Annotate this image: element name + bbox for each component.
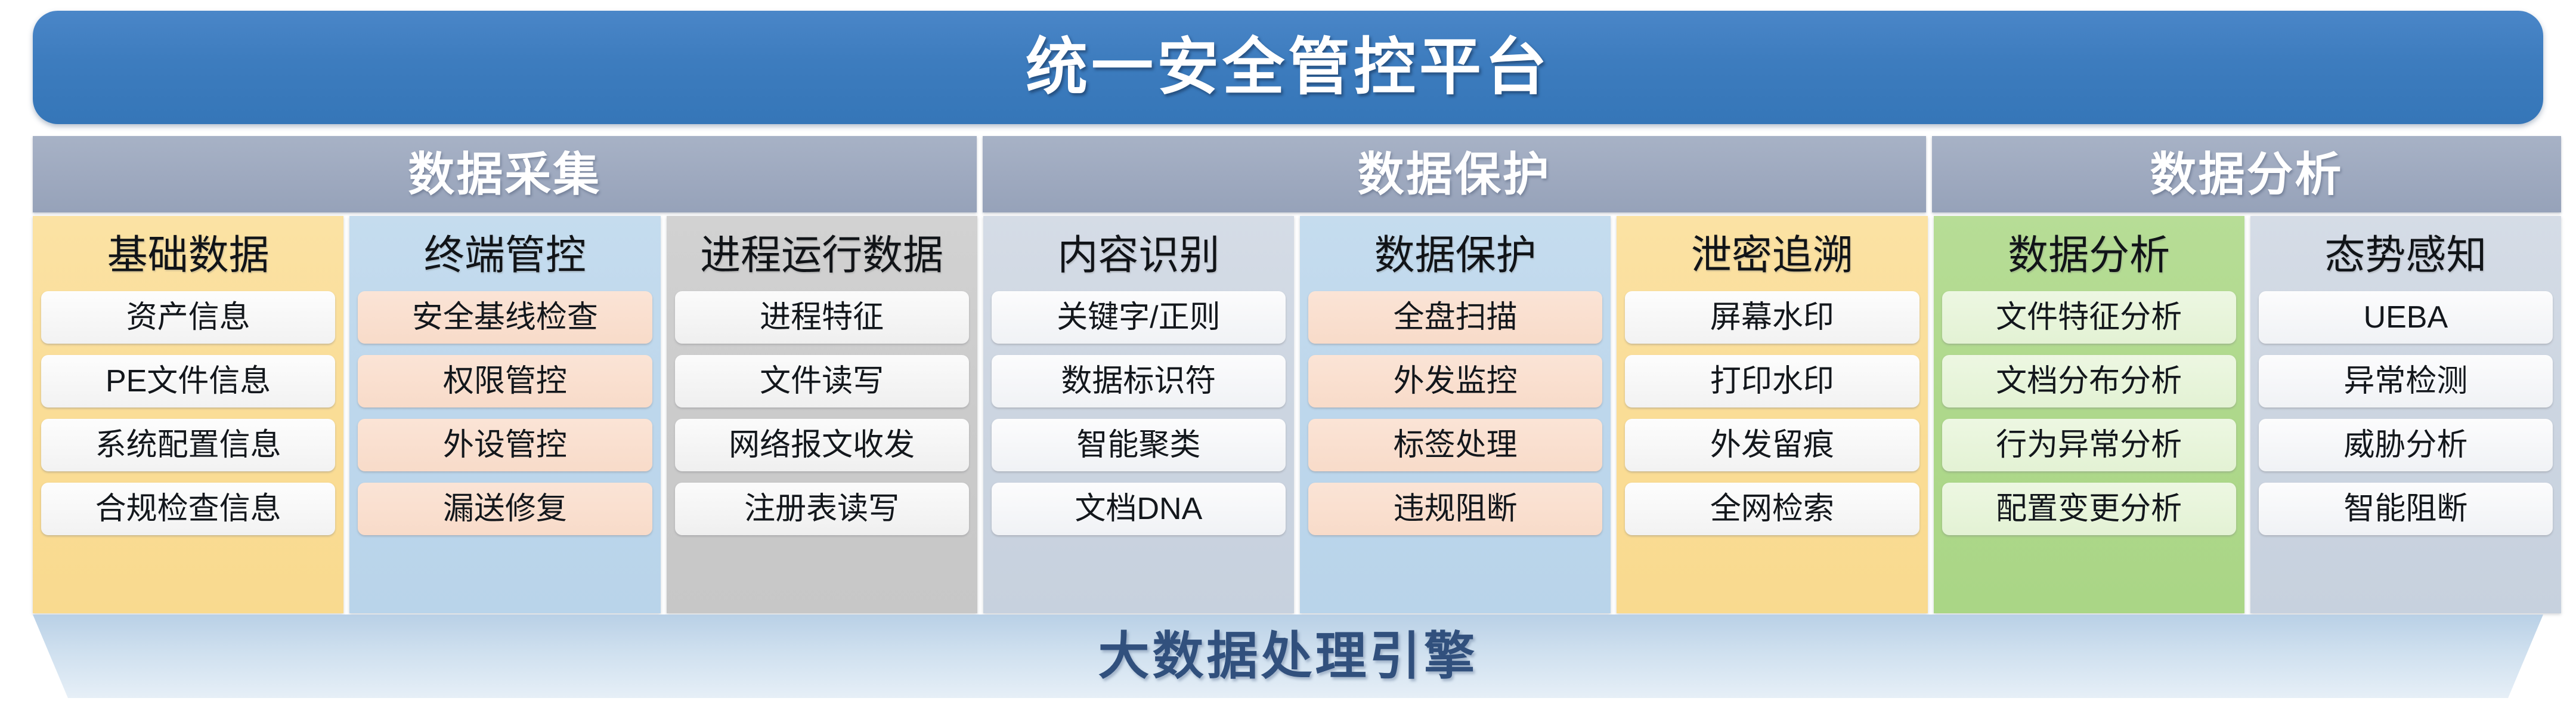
section-title: 数据保护 (1358, 151, 1551, 197)
column-leak-traceability[interactable]: 泄密追溯 屏幕水印 打印水印 外发留痕 全网检索 (1617, 216, 1927, 613)
capability-chip[interactable]: 外设管控 (358, 419, 652, 471)
capability-chip[interactable]: 文件读写 (675, 355, 969, 407)
column-endpoint-control[interactable]: 终端管控 安全基线检查 权限管控 外设管控 漏送修复 (349, 216, 660, 613)
column-title: 泄密追溯 (1691, 235, 1853, 276)
column-data-analysis[interactable]: 数据分析 文件特征分析 文档分布分析 行为异常分析 配置变更分析 (1934, 216, 2244, 613)
capability-chip[interactable]: 文档DNA (992, 483, 1286, 535)
capability-chip[interactable]: 行为异常分析 (1942, 419, 2236, 471)
column-basic-data[interactable]: 基础数据 资产信息 PE文件信息 系统配置信息 合规检查信息 (33, 216, 343, 613)
capability-chip[interactable]: 权限管控 (358, 355, 652, 407)
section-title: 数据采集 (408, 151, 601, 197)
section-header-data-protection: 数据保护 (983, 136, 1927, 212)
capability-chip[interactable]: 智能聚类 (992, 419, 1286, 471)
column-items: 安全基线检查 权限管控 外设管控 漏送修复 (358, 291, 652, 603)
capability-chip[interactable]: 关键字/正则 (992, 291, 1286, 344)
section-header-row: 数据采集 数据保护 数据分析 (33, 136, 2561, 212)
capability-chip[interactable]: 文档分布分析 (1942, 355, 2236, 407)
column-items: 进程特征 文件读写 网络报文收发 注册表读写 (675, 291, 969, 603)
section-header-data-collection: 数据采集 (33, 136, 977, 212)
column-situational-awareness[interactable]: 态势感知 UEBA 异常检测 威胁分析 智能阻断 (2250, 216, 2561, 613)
capability-chip[interactable]: 注册表读写 (675, 483, 969, 535)
column-content-recognition[interactable]: 内容识别 关键字/正则 数据标识符 智能聚类 文档DNA (983, 216, 1294, 613)
capability-chip[interactable]: 系统配置信息 (41, 419, 335, 471)
column-process-runtime-data[interactable]: 进程运行数据 进程特征 文件读写 网络报文收发 注册表读写 (667, 216, 977, 613)
capability-chip[interactable]: 网络报文收发 (675, 419, 969, 471)
capability-columns: 基础数据 资产信息 PE文件信息 系统配置信息 合规检查信息 终端管控 安全基线… (33, 216, 2561, 613)
column-items: UEBA 异常检测 威胁分析 智能阻断 (2259, 291, 2553, 603)
platform-title-banner: 统一安全管控平台 (33, 11, 2543, 124)
column-title: 数据分析 (2008, 235, 2170, 276)
column-items: 屏幕水印 打印水印 外发留痕 全网检索 (1625, 291, 1919, 603)
capability-chip[interactable]: 智能阻断 (2259, 483, 2553, 535)
capability-chip[interactable]: 安全基线检查 (358, 291, 652, 344)
capability-chip[interactable]: 外发监控 (1308, 355, 1602, 407)
column-items: 全盘扫描 外发监控 标签处理 违规阻断 (1308, 291, 1602, 603)
platform-title: 统一安全管控平台 (1026, 36, 1550, 98)
capability-chip[interactable]: 全盘扫描 (1308, 291, 1602, 344)
capability-chip[interactable]: 数据标识符 (992, 355, 1286, 407)
capability-chip[interactable]: 外发留痕 (1625, 419, 1919, 471)
capability-chip[interactable]: 进程特征 (675, 291, 969, 344)
capability-chip[interactable]: PE文件信息 (41, 355, 335, 407)
engine-title: 大数据处理引擎 (1098, 631, 1478, 682)
capability-chip[interactable]: 配置变更分析 (1942, 483, 2236, 535)
column-title: 终端管控 (424, 235, 586, 276)
column-title: 数据保护 (1374, 235, 1537, 276)
column-data-protection[interactable]: 数据保护 全盘扫描 外发监控 标签处理 违规阻断 (1300, 216, 1611, 613)
capability-chip[interactable]: 资产信息 (41, 291, 335, 344)
capability-chip[interactable]: 合规检查信息 (41, 483, 335, 535)
bigdata-engine-bar: 大数据处理引擎 (33, 615, 2543, 698)
capability-chip[interactable]: 异常检测 (2259, 355, 2553, 407)
capability-chip[interactable]: 屏幕水印 (1625, 291, 1919, 344)
column-title: 基础数据 (107, 235, 270, 276)
column-items: 关键字/正则 数据标识符 智能聚类 文档DNA (992, 291, 1286, 603)
capability-chip[interactable]: 标签处理 (1308, 419, 1602, 471)
capability-chip[interactable]: 漏送修复 (358, 483, 652, 535)
section-title: 数据分析 (2150, 151, 2343, 197)
capability-chip[interactable]: 全网检索 (1625, 483, 1919, 535)
column-items: 资产信息 PE文件信息 系统配置信息 合规检查信息 (41, 291, 335, 603)
column-title: 进程运行数据 (700, 235, 943, 276)
column-title: 内容识别 (1057, 235, 1219, 276)
capability-chip[interactable]: 违规阻断 (1308, 483, 1602, 535)
capability-matrix: 数据采集 数据保护 数据分析 基础数据 资产信息 PE文件信息 系统配置信息 合… (33, 136, 2561, 613)
section-header-data-analysis: 数据分析 (1932, 136, 2561, 212)
capability-chip[interactable]: 打印水印 (1625, 355, 1919, 407)
column-items: 文件特征分析 文档分布分析 行为异常分析 配置变更分析 (1942, 291, 2236, 603)
capability-chip[interactable]: 文件特征分析 (1942, 291, 2236, 344)
column-title: 态势感知 (2324, 235, 2487, 276)
capability-chip[interactable]: UEBA (2259, 291, 2553, 344)
capability-chip[interactable]: 威胁分析 (2259, 419, 2553, 471)
